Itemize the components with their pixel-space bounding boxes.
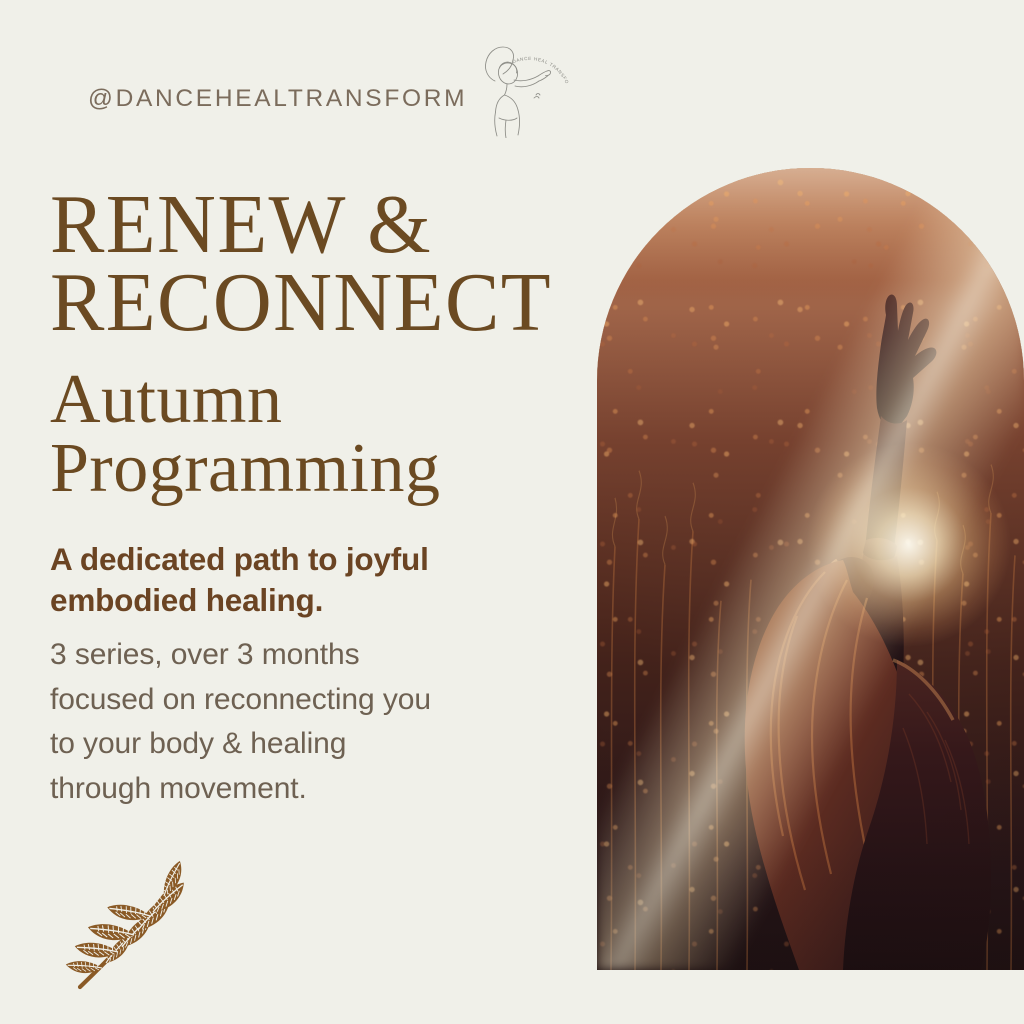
body-line-4: through movement. (50, 767, 570, 812)
subtitle-line-2: Programming (50, 435, 610, 504)
body-line-2: focused on reconnecting you (50, 678, 570, 723)
subtitle-line-1: Autumn (50, 366, 610, 435)
dancer-line-art-logo: DANCE HEAL TRANSFORM (468, 22, 580, 138)
lead-line-2: embodied healing. (50, 580, 550, 621)
svg-text:DANCE HEAL TRANSFORM: DANCE HEAL TRANSFORM (468, 22, 570, 85)
instagram-handle: @DANCEHEALTRANSFORM (88, 85, 467, 113)
headline-line-2: RECONNECT (50, 264, 554, 342)
lead-line-1: A dedicated path to joyful (50, 539, 550, 580)
body-line-1: 3 series, over 3 months (50, 633, 570, 678)
poster-canvas: @DANCEHEALTRANSFORM (0, 0, 1024, 1024)
body-paragraph: 3 series, over 3 months focused on recon… (50, 633, 570, 812)
subtitle: Autumn Programming (50, 366, 610, 503)
body-line-3: to your body & healing (50, 722, 570, 767)
headline-line-1: RENEW & (50, 186, 554, 264)
page-title: RENEW & RECONNECT (50, 186, 554, 342)
hero-photo-arch (597, 168, 1024, 970)
fern-leaf-branch-icon (58, 852, 210, 1007)
lead-paragraph: A dedicated path to joyful embodied heal… (50, 539, 550, 622)
